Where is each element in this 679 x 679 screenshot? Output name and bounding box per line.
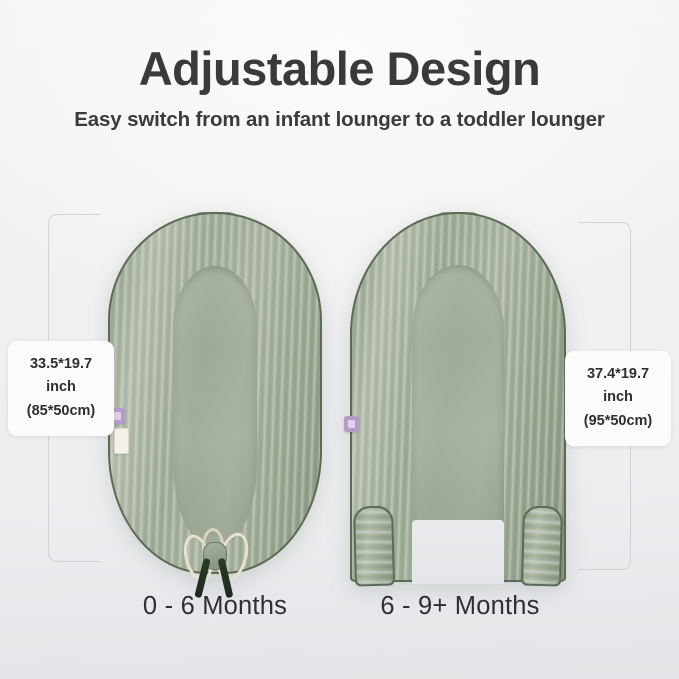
caption-toddler-age-range: 6 - 9+ Months (352, 592, 568, 621)
infant-lounger-image (108, 212, 322, 574)
toddler-lounger-mattress (412, 265, 503, 543)
infant-lounger-mattress (173, 266, 257, 545)
infant-lounger-bumper (108, 212, 322, 574)
header: Adjustable Design Easy switch from an in… (0, 0, 679, 132)
bumper-end-left (353, 505, 395, 586)
dimension-inches: 37.4*19.7 (575, 363, 661, 386)
bumper-end-right (521, 505, 563, 586)
dimension-metric: (85*50cm) (18, 400, 104, 423)
toddler-lounger-image (350, 212, 566, 582)
infographic-canvas: Adjustable Design Easy switch from an in… (0, 0, 679, 679)
dimension-inches: 33.5*19.7 (18, 353, 104, 376)
bumper-ruching-texture (355, 508, 393, 585)
brand-tag-icon (344, 416, 359, 432)
dimension-unit: inch (18, 376, 104, 399)
drawstring-ties (169, 528, 261, 600)
dimension-metric: (95*50cm) (575, 410, 661, 433)
open-end-gap (412, 520, 505, 584)
dimension-unit: inch (575, 386, 661, 409)
dimension-label-left: 33.5*19.7 inch (85*50cm) (8, 341, 114, 436)
care-label-tag-icon (114, 428, 129, 454)
caption-infant-age-range: 0 - 6 Months (110, 592, 320, 621)
page-subtitle: Easy switch from an infant lounger to a … (0, 108, 679, 132)
page-title: Adjustable Design (0, 44, 679, 95)
bumper-ruching-texture (523, 508, 561, 585)
dimension-label-right: 37.4*19.7 inch (95*50cm) (565, 351, 671, 446)
